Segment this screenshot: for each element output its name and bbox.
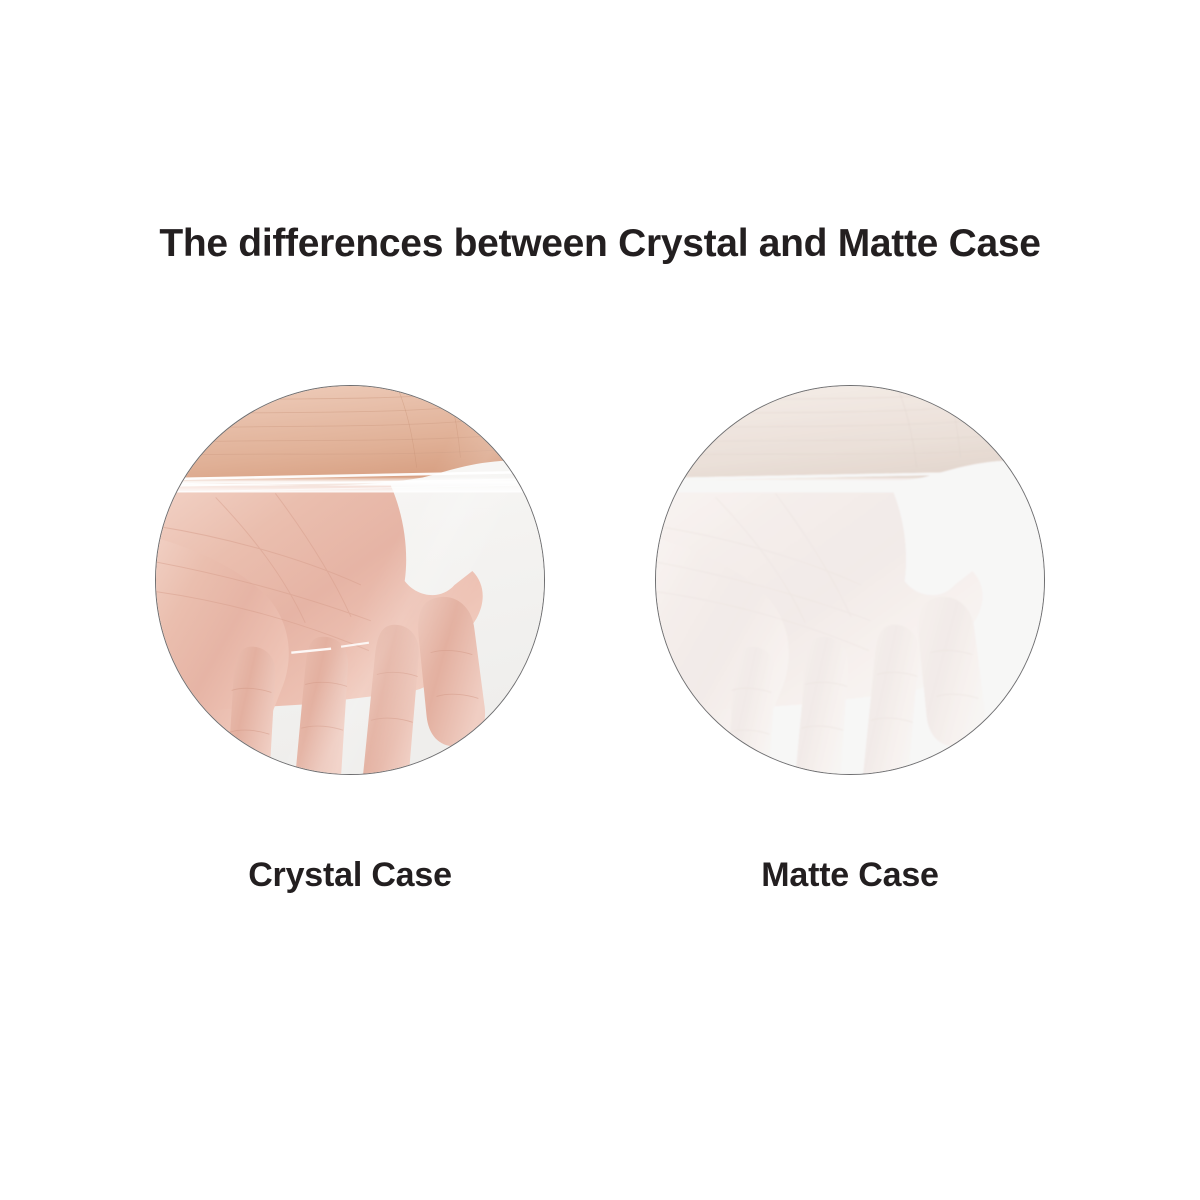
comparison-infographic: The differences between Crystal and Matt… — [0, 0, 1200, 1200]
crystal-case-circle — [155, 385, 545, 775]
crystal-case-caption: Crystal Case — [155, 856, 545, 895]
matte-case-panel[interactable] — [655, 385, 1045, 775]
matte-case-circle — [655, 385, 1045, 775]
matte-case-photo — [656, 386, 1044, 774]
crystal-case-photo — [156, 386, 544, 774]
crystal-case-panel[interactable] — [155, 385, 545, 775]
comparison-row — [0, 385, 1200, 785]
matte-case-caption: Matte Case — [655, 856, 1045, 895]
page-title: The differences between Crystal and Matt… — [0, 222, 1200, 266]
